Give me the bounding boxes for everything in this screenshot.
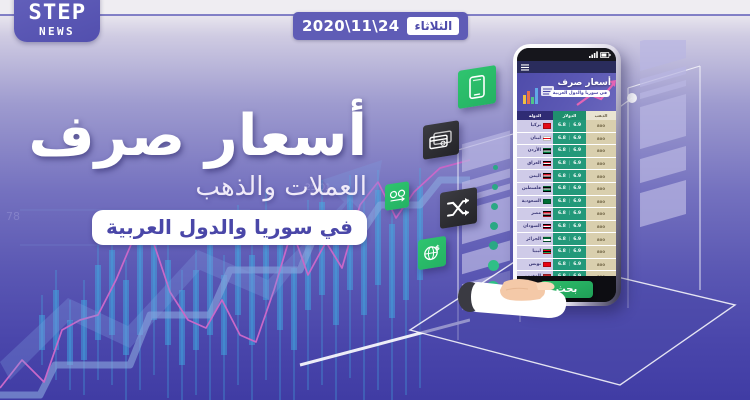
scope-badge: في سوريا والدول العربية bbox=[92, 210, 367, 245]
country-name: فلسطين bbox=[522, 186, 541, 191]
phone-status-bar bbox=[517, 48, 616, 61]
cell-country: السودان bbox=[517, 221, 553, 234]
country-flag-icon bbox=[543, 186, 551, 192]
cell-gold: 800 bbox=[586, 145, 616, 158]
country-flag-icon bbox=[543, 199, 551, 205]
cell-gold: 800 bbox=[586, 196, 616, 209]
country-name: اليمن bbox=[529, 174, 541, 179]
country-name: السعودية bbox=[522, 199, 541, 204]
cell-sell-value: 6.9 bbox=[573, 237, 581, 242]
table-row[interactable]: 8006.9|6.8الجزائر bbox=[517, 233, 616, 246]
cell-sell-value: 6.9 bbox=[573, 249, 581, 254]
progress-dot bbox=[490, 222, 498, 230]
phone-screen: أسعار صرف في سوريا والدول العربية الذهب … bbox=[517, 48, 616, 302]
cell-country: السعودية bbox=[517, 196, 553, 209]
headline-block: أسعار صرف العملات والذهب في سوريا والدول… bbox=[7, 108, 367, 245]
country-flag-icon bbox=[543, 161, 551, 167]
cell-dollar: 6.9|6.8 bbox=[553, 120, 586, 133]
cell-sell-value: 6.9 bbox=[573, 161, 581, 166]
cell-sell-value: 6.9 bbox=[573, 148, 581, 153]
currency-exchange-icon bbox=[389, 186, 406, 206]
cell-buy-value: 6.8 bbox=[558, 262, 566, 267]
credit-card-icon bbox=[429, 129, 453, 152]
column-header-country: الدولة bbox=[517, 111, 553, 120]
cell-buy-value: 6.8 bbox=[558, 211, 566, 216]
cell-sell-value: 6.9 bbox=[573, 186, 581, 191]
app-subtitle: في سوريا والدول العربية bbox=[550, 90, 610, 97]
cell-sell-value: 6.9 bbox=[573, 123, 581, 128]
phone-mockup: أسعار صرف في سوريا والدول العربية الذهب … bbox=[513, 44, 621, 306]
cell-separator: | bbox=[569, 249, 570, 254]
country-name: تونس bbox=[529, 262, 541, 267]
table-row[interactable]: 8006.9|6.8العراق bbox=[517, 158, 616, 171]
progress-dot bbox=[491, 203, 498, 210]
cell-buy-value: 6.8 bbox=[558, 237, 566, 242]
battery-icon bbox=[600, 52, 611, 58]
country-flag-icon bbox=[543, 148, 551, 154]
cell-buy-value: 6.8 bbox=[558, 174, 566, 179]
country-name: الجزائر bbox=[526, 237, 541, 242]
globe-dollar-icon: $ bbox=[423, 242, 442, 264]
cell-sell-value: 6.9 bbox=[573, 174, 581, 179]
cell-dollar: 6.9|6.8 bbox=[553, 133, 586, 146]
progress-dot bbox=[493, 165, 498, 170]
country-name: السودان bbox=[523, 224, 541, 229]
cell-sell-value: 6.9 bbox=[573, 224, 581, 229]
shuffle-exchange-icon bbox=[447, 196, 470, 220]
cell-separator: | bbox=[569, 148, 570, 153]
country-flag-icon bbox=[543, 262, 551, 268]
step-news-logo[interactable]: STEP NEWS bbox=[14, 0, 100, 42]
logo-primary-text: STEP bbox=[28, 2, 86, 23]
column-header-gold: الذهب bbox=[586, 111, 616, 120]
table-row[interactable]: 8006.9|6.8السعودية bbox=[517, 196, 616, 209]
country-flag-icon bbox=[543, 123, 551, 129]
cell-gold: 800 bbox=[586, 170, 616, 183]
cell-dollar: 6.9|6.8 bbox=[553, 145, 586, 158]
app-banner-chart-bars bbox=[523, 88, 538, 104]
table-row[interactable]: 8006.9|6.8اليمن bbox=[517, 170, 616, 183]
cell-buy-value: 6.8 bbox=[558, 249, 566, 254]
cell-dollar: 6.9|6.8 bbox=[553, 158, 586, 171]
date-bar: 2020\11\24 الثلاثاء bbox=[293, 12, 468, 40]
cell-sell-value: 6.9 bbox=[573, 211, 581, 216]
cell-buy-value: 6.8 bbox=[558, 186, 566, 191]
cell-gold: 800 bbox=[586, 208, 616, 221]
cell-country: مصر bbox=[517, 208, 553, 221]
page-subtitle: العملات والذهب bbox=[7, 174, 367, 200]
cell-country: العراق bbox=[517, 158, 553, 171]
cell-country: الأردن bbox=[517, 145, 553, 158]
country-flag-icon bbox=[543, 211, 551, 217]
cell-buy-value: 6.8 bbox=[558, 123, 566, 128]
cell-separator: | bbox=[569, 199, 570, 204]
column-header-dollar: الدولار bbox=[553, 111, 586, 120]
cell-gold: 800 bbox=[586, 158, 616, 171]
table-row[interactable]: 8006.9|6.8مصر bbox=[517, 208, 616, 221]
cell-gold: 800 bbox=[586, 133, 616, 146]
table-row[interactable]: 8006.9|6.8لبنان bbox=[517, 133, 616, 146]
country-name: ليبيا bbox=[532, 249, 541, 254]
cell-dollar: 6.9|6.8 bbox=[553, 208, 586, 221]
cell-separator: | bbox=[569, 161, 570, 166]
weekday-badge: الثلاثاء bbox=[407, 17, 459, 35]
cell-country: ليبيا bbox=[517, 246, 553, 259]
svg-text:$: $ bbox=[435, 242, 440, 252]
country-name: الأردن bbox=[528, 148, 541, 153]
rates-table: الذهب الدولار الدولة 8006.9|6.8تركيا8006… bbox=[517, 111, 616, 276]
banner-canvas: 78 25.01 bbox=[0, 0, 750, 400]
cell-buy-value: 6.8 bbox=[558, 224, 566, 229]
phone-nav-bar[interactable] bbox=[517, 61, 616, 73]
country-flag-icon bbox=[543, 224, 551, 230]
country-name: مصر bbox=[531, 211, 541, 216]
cell-separator: | bbox=[569, 211, 570, 216]
cell-gold: 800 bbox=[586, 183, 616, 196]
progress-dot bbox=[492, 184, 498, 190]
country-flag-icon bbox=[543, 136, 551, 142]
cell-sell-value: 6.9 bbox=[573, 199, 581, 204]
table-row[interactable]: 8006.9|6.8ليبيا bbox=[517, 246, 616, 259]
cell-gold: 800 bbox=[586, 233, 616, 246]
cell-separator: | bbox=[569, 174, 570, 179]
cell-separator: | bbox=[569, 123, 570, 128]
date-value: 2020\11\24 bbox=[302, 17, 399, 35]
cell-separator: | bbox=[569, 262, 570, 267]
app-title: أسعار صرف bbox=[558, 78, 611, 88]
shuffle-exchange-icon-tile[interactable] bbox=[440, 187, 477, 229]
cell-dollar: 6.9|6.8 bbox=[553, 233, 586, 246]
country-name: العراق bbox=[527, 161, 541, 166]
cell-country: اليمن bbox=[517, 170, 553, 183]
progress-dot bbox=[489, 241, 498, 250]
cell-dollar: 6.9|6.8 bbox=[553, 170, 586, 183]
cell-dollar: 6.9|6.8 bbox=[553, 246, 586, 259]
cell-country: لبنان bbox=[517, 133, 553, 146]
cell-sell-value: 6.9 bbox=[573, 136, 581, 141]
cell-buy-value: 6.8 bbox=[558, 199, 566, 204]
cell-gold: 800 bbox=[586, 120, 616, 133]
cell-separator: | bbox=[569, 237, 570, 242]
cell-dollar: 6.9|6.8 bbox=[553, 196, 586, 209]
signal-bars-icon bbox=[589, 51, 598, 58]
cell-gold: 800 bbox=[586, 221, 616, 234]
country-flag-icon bbox=[543, 236, 551, 242]
table-row[interactable]: 8006.9|6.8الأردن bbox=[517, 145, 616, 158]
cell-separator: | bbox=[569, 136, 570, 141]
currency-exchange-icon-tile[interactable] bbox=[385, 181, 409, 211]
app-banner: أسعار صرف في سوريا والدول العربية bbox=[517, 73, 616, 111]
cell-gold: 800 bbox=[586, 246, 616, 259]
country-name: تركيا bbox=[531, 123, 541, 128]
rates-table-body: 8006.9|6.8تركيا8006.9|6.8لبنان8006.9|6.8… bbox=[517, 120, 616, 284]
cell-separator: | bbox=[569, 224, 570, 229]
table-row[interactable]: 8006.9|6.8السودان bbox=[517, 221, 616, 234]
cell-country: الجزائر bbox=[517, 233, 553, 246]
cell-country: تركيا bbox=[517, 120, 553, 133]
table-row[interactable]: 8006.9|6.8تركيا bbox=[517, 120, 616, 133]
cell-dollar: 6.9|6.8 bbox=[553, 221, 586, 234]
cell-gold: 800 bbox=[586, 259, 616, 272]
cell-buy-value: 6.8 bbox=[558, 161, 566, 166]
credit-card-icon-tile[interactable] bbox=[423, 120, 459, 160]
cell-country: فلسطين bbox=[517, 183, 553, 196]
hamburger-icon bbox=[521, 64, 529, 71]
table-row[interactable]: 8006.9|6.8فلسطين bbox=[517, 183, 616, 196]
country-name: لبنان bbox=[530, 136, 541, 141]
cell-buy-value: 6.8 bbox=[558, 148, 566, 153]
pointing-hand bbox=[444, 268, 574, 326]
country-flag-icon bbox=[543, 249, 551, 255]
cell-dollar: 6.9|6.8 bbox=[553, 183, 586, 196]
page-title: أسعار صرف bbox=[7, 108, 367, 165]
cell-sell-value: 6.9 bbox=[573, 262, 581, 267]
globe-dollar-icon-tile[interactable]: $ bbox=[418, 236, 446, 270]
logo-secondary-text: NEWS bbox=[39, 26, 75, 37]
mobile-phone-icon-tile[interactable] bbox=[458, 65, 496, 109]
cell-separator: | bbox=[569, 186, 570, 191]
rates-table-header: الذهب الدولار الدولة bbox=[517, 111, 616, 120]
cell-buy-value: 6.8 bbox=[558, 136, 566, 141]
country-flag-icon bbox=[543, 173, 551, 179]
mobile-phone-icon bbox=[467, 73, 487, 100]
